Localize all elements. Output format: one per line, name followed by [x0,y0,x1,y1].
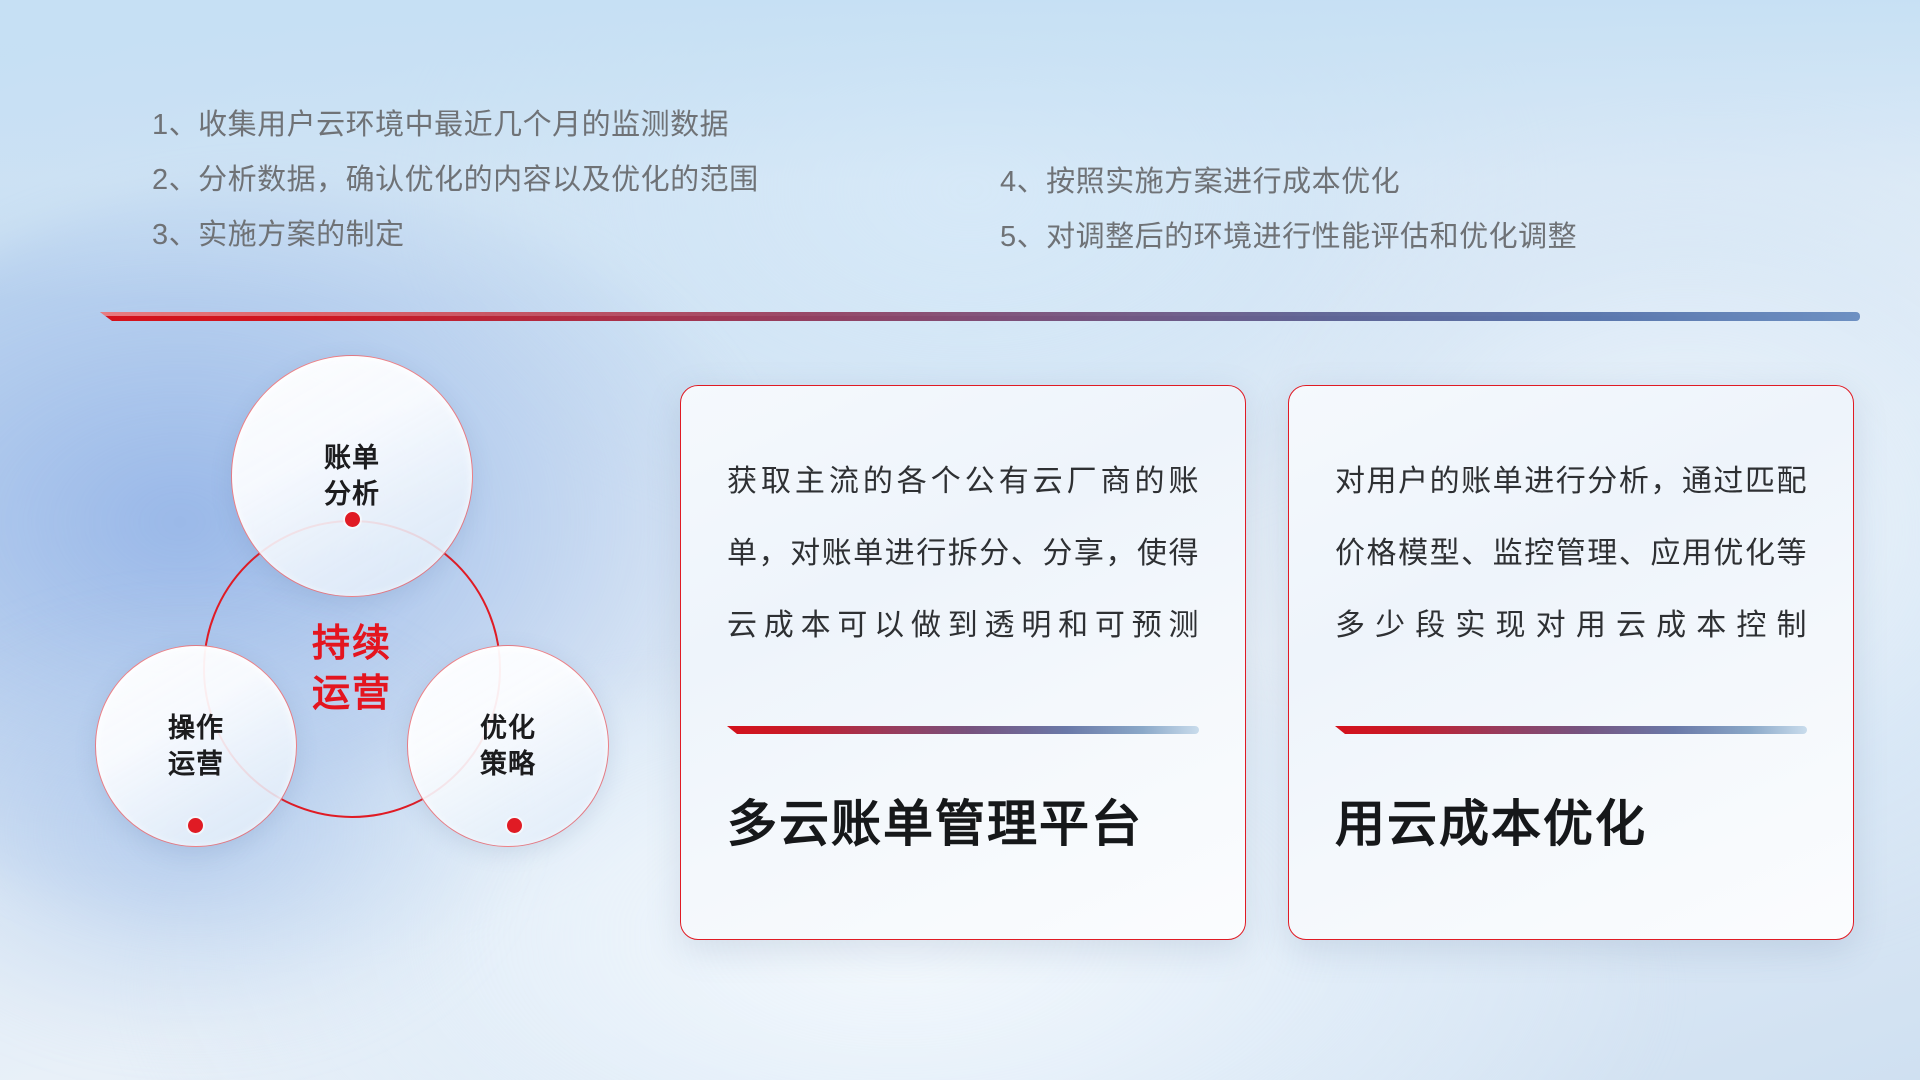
card-accent-rule [727,726,1199,734]
diagram-node-dot-bottom-right [507,818,522,833]
card-description: 对用户的账单进行分析，通过匹配价格模型、监控管理、应用优化等多少段实现对用云成本… [1335,446,1807,696]
card-content: 对用户的账单进行分析，通过匹配价格模型、监控管理、应用优化等多少段实现对用云成本… [1289,386,1853,939]
diagram-center-label: 持续 运营 [203,520,501,818]
section-divider-bar [100,312,1860,321]
continuous-operation-diagram: 账单 分析 操作 运营 优化 策略 持续 运营 [95,355,625,915]
steps-column-left: 1、收集用户云环境中最近几个月的监测数据 2、分析数据，确认优化的内容以及优化的… [152,98,759,263]
bubble-label-line2: 分析 [324,476,380,512]
step-item: 3、实施方案的制定 [152,208,759,263]
card-description: 获取主流的各个公有云厂商的账单，对账单进行拆分、分享，使得云成本可以做到透明和可… [727,446,1199,696]
center-label-line1: 持续 [312,619,392,669]
step-item: 4、按照实施方案进行成本优化 [1000,155,1577,210]
steps-section: 1、收集用户云环境中最近几个月的监测数据 2、分析数据，确认优化的内容以及优化的… [0,0,1920,270]
card-title: 用云成本优化 [1335,792,1807,856]
center-label-line2: 运营 [312,669,392,719]
slide-root: 1、收集用户云环境中最近几个月的监测数据 2、分析数据，确认优化的内容以及优化的… [0,0,1920,1080]
card-content: 获取主流的各个公有云厂商的账单，对账单进行拆分、分享，使得云成本可以做到透明和可… [681,386,1245,939]
diagram-node-dot-top [345,512,360,527]
step-item: 2、分析数据，确认优化的内容以及优化的范围 [152,153,759,208]
card-accent-rule [1335,726,1807,734]
feature-card-cloud-cost-optimization[interactable]: 对用户的账单进行分析，通过匹配价格模型、监控管理、应用优化等多少段实现对用云成本… [1288,385,1854,940]
diagram-node-dot-bottom-left [188,818,203,833]
step-item: 5、对调整后的环境进行性能评估和优化调整 [1000,210,1577,265]
step-item: 1、收集用户云环境中最近几个月的监测数据 [152,98,759,153]
card-title: 多云账单管理平台 [727,792,1199,856]
bubble-label-line1: 账单 [324,440,380,476]
feature-card-multicloud-billing[interactable]: 获取主流的各个公有云厂商的账单，对账单进行拆分、分享，使得云成本可以做到透明和可… [680,385,1246,940]
steps-column-right: 4、按照实施方案进行成本优化 5、对调整后的环境进行性能评估和优化调整 [1000,155,1577,265]
